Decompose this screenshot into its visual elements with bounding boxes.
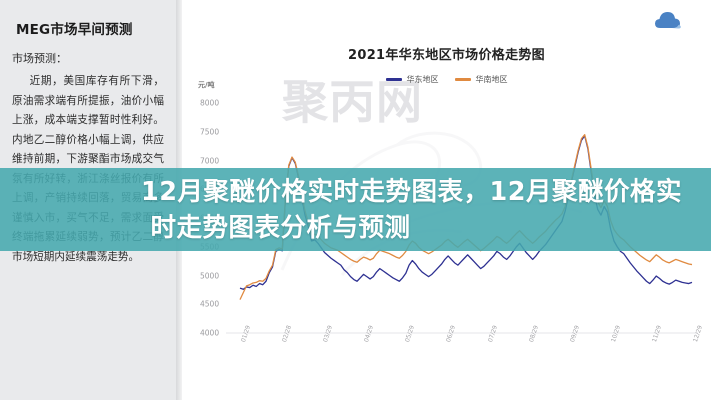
y-tick-label: 8000 xyxy=(200,99,219,108)
y-tick-label: 5000 xyxy=(200,271,219,280)
overlay-headline-line1: 12月聚醚价格实时走势图表，12月聚醚价格实 xyxy=(0,174,711,210)
y-tick-label: 7000 xyxy=(200,156,219,165)
screenshot-root: MEG市场早间预测 市场预测： 近期，美国库存有所下滑，原油需求端有所提振，油价… xyxy=(0,0,711,400)
overlay-headline: 12月聚醚价格实时走势图表，12月聚醚价格实 时走势图表分析与预测 xyxy=(0,170,711,250)
y-tick-label: 4500 xyxy=(200,300,219,309)
y-tick-label: 4000 xyxy=(200,329,219,338)
y-tick-label: 7500 xyxy=(200,127,219,136)
overlay-headline-line2: 时走势图表分析与预测 xyxy=(0,210,711,246)
article-title: MEG市场早间预测 xyxy=(16,18,166,38)
article-subtitle: 市场预测： xyxy=(12,50,166,66)
